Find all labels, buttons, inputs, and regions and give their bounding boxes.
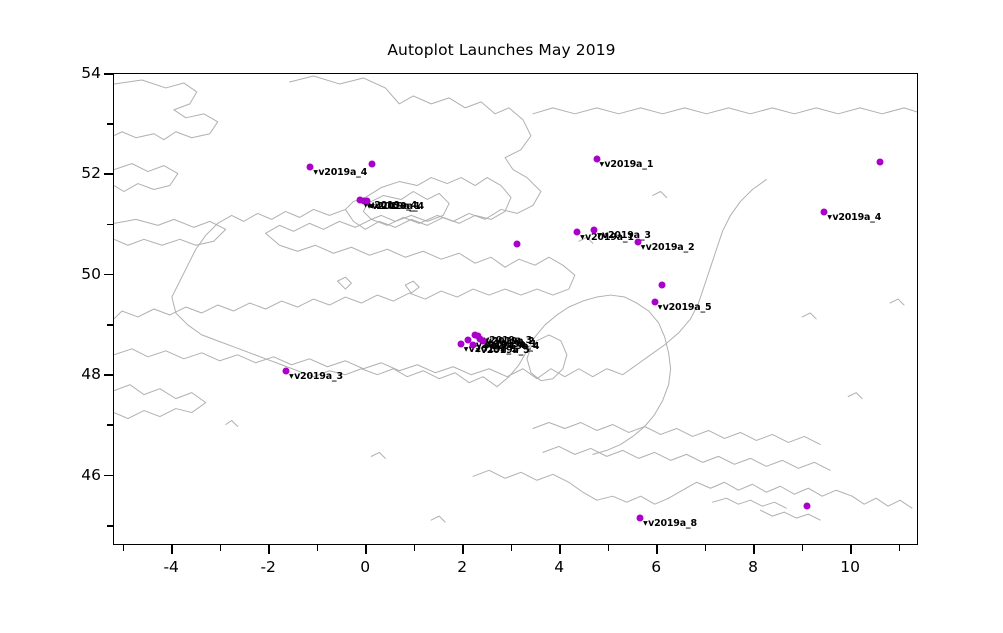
x-tick-mark: [753, 545, 755, 554]
data-point-label: v2019a_5: [658, 302, 712, 313]
x-tick-label: 2: [432, 558, 492, 576]
data-point-label: v2019a_4: [313, 167, 367, 178]
x-minor-tick: [414, 545, 416, 551]
y-minor-tick: [107, 123, 113, 125]
y-tick-mark: [104, 73, 113, 75]
x-tick-label: 6: [626, 558, 686, 576]
x-minor-tick: [608, 545, 610, 551]
y-tick-label: 48: [41, 365, 101, 383]
x-tick-label: -2: [238, 558, 298, 576]
data-point-marker[interactable]: [658, 281, 665, 288]
data-point-label: v2019a_5: [476, 345, 530, 356]
y-tick-mark: [104, 475, 113, 477]
y-tick-label: 50: [41, 265, 101, 283]
x-tick-mark: [850, 545, 852, 554]
x-tick-mark: [462, 545, 464, 554]
x-minor-tick: [511, 545, 513, 551]
data-point-marker[interactable]: [804, 502, 811, 509]
coastline-map: [114, 74, 917, 544]
x-tick-mark: [559, 545, 561, 554]
y-tick-mark: [104, 173, 113, 175]
data-point-label: v2019a_2: [641, 242, 695, 253]
y-minor-tick: [107, 424, 113, 426]
x-tick-label: 8: [723, 558, 783, 576]
figure: Autoplot Launches May 2019: [0, 0, 1003, 633]
y-tick-label: 54: [41, 64, 101, 82]
data-point-label: v2019a_3: [597, 230, 651, 241]
y-tick-label: 46: [41, 466, 101, 484]
data-point-label: v2019a_1: [600, 159, 654, 170]
y-minor-tick: [107, 324, 113, 326]
y-tick-mark: [104, 374, 113, 376]
x-tick-mark: [656, 545, 658, 554]
data-point-marker[interactable]: [877, 158, 884, 165]
x-tick-label: -4: [141, 558, 201, 576]
map-plot-area[interactable]: v2019a_4v2019a_4v2019a_1v2019a_4v2019a_3…: [113, 73, 918, 545]
page-title: Autoplot Launches May 2019: [0, 41, 1003, 59]
x-minor-tick: [802, 545, 804, 551]
x-tick-mark: [171, 545, 173, 554]
x-minor-tick: [899, 545, 901, 551]
data-point-marker[interactable]: [513, 240, 520, 247]
x-minor-tick: [317, 545, 319, 551]
x-tick-mark: [365, 545, 367, 554]
data-point-label: v2019a_3: [289, 371, 343, 382]
y-tick-label: 52: [41, 164, 101, 182]
data-point-label: v2019a_8: [643, 518, 697, 529]
x-tick-label: 4: [529, 558, 589, 576]
data-point-marker[interactable]: [368, 161, 375, 168]
y-minor-tick: [107, 525, 113, 527]
y-tick-mark: [104, 274, 113, 276]
x-minor-tick: [220, 545, 222, 551]
x-minor-tick: [123, 545, 125, 551]
x-tick-label: 0: [335, 558, 395, 576]
y-minor-tick: [107, 224, 113, 226]
data-point-label: v2019a_4: [827, 212, 881, 223]
x-tick-label: 10: [820, 558, 880, 576]
x-tick-mark: [268, 545, 270, 554]
data-point-label: v2019a_4: [370, 201, 424, 212]
x-minor-tick: [705, 545, 707, 551]
